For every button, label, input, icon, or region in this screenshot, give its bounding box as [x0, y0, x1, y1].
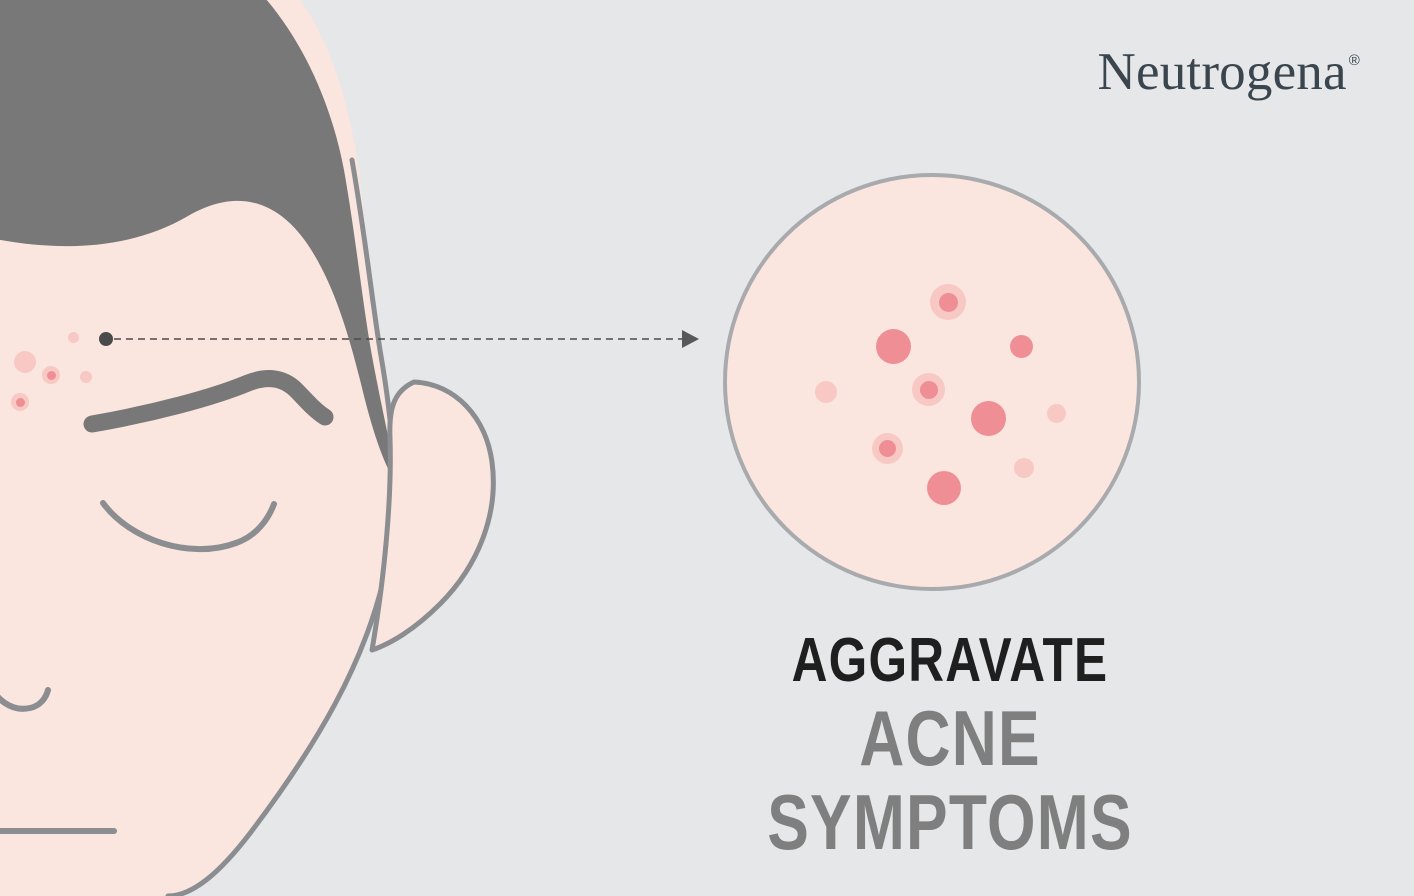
face-spot-4 [80, 371, 92, 383]
headline-block: AGGRAVATE ACNE SYMPTOMS [600, 628, 1300, 864]
headline-line-2: ACNE SYMPTOMS [670, 696, 1230, 864]
illustration-artboard: Neutrogena ® AGGRAVATE ACNE SYMPTOMS [0, 0, 1414, 896]
spot-solid-large-2 [971, 401, 1006, 436]
face-spot-3 [42, 366, 60, 384]
face-spot-5 [11, 393, 29, 411]
spot-solid-large-3 [927, 471, 961, 505]
spot-solid-small-1 [1010, 335, 1033, 358]
face-spot-1 [68, 332, 79, 343]
ear-shape [372, 382, 493, 650]
callout-connector [96, 326, 716, 354]
spot-solid-large-1 [876, 329, 911, 364]
face-spot-2 [14, 351, 36, 373]
spot-ring-2 [912, 373, 945, 406]
spot-ring-1 [930, 284, 966, 320]
spot-light-1 [815, 381, 837, 403]
poster-canvas: Neutrogena ® AGGRAVATE ACNE SYMPTOMS [0, 0, 1414, 896]
spot-light-3 [1014, 458, 1034, 478]
headline-line-1: AGGRAVATE [670, 628, 1230, 694]
callout-arrowhead [682, 330, 699, 348]
brand-name: Neutrogena [1098, 44, 1347, 101]
magnified-skin-circle [723, 173, 1141, 591]
spot-ring-3 [872, 433, 903, 464]
brand-logo: Neutrogena ® [1090, 44, 1360, 101]
registered-trademark-icon: ® [1349, 51, 1360, 71]
spot-light-2 [1047, 404, 1066, 423]
callout-anchor-dot [99, 332, 113, 346]
